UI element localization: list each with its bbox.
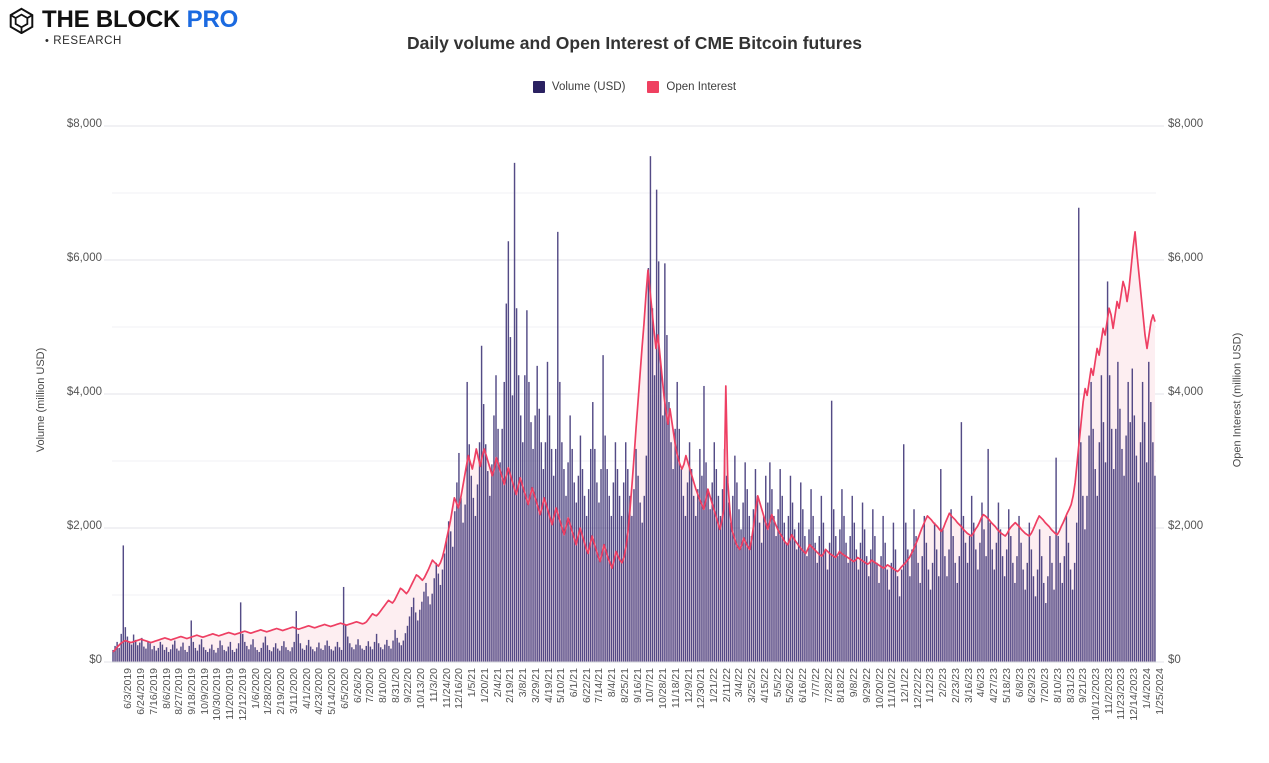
x-axis-tick: 2/4/21 <box>492 668 504 697</box>
x-axis-tick: 2/23/23 <box>950 668 962 703</box>
y-axis-right-tick: $6,000 <box>1168 252 1228 264</box>
x-axis-tick: 1/5/21 <box>466 668 478 697</box>
x-axis-tick: 8/18/22 <box>835 668 847 703</box>
x-axis-tick: 3/4/22 <box>733 668 745 697</box>
x-axis-tick: 8/4/21 <box>606 668 618 697</box>
x-axis-tick: 12/30/21 <box>695 668 707 709</box>
x-axis-tick: 6/26/20 <box>352 668 364 703</box>
x-axis-tick: 3/29/21 <box>530 668 542 703</box>
x-axis-tick: 6/3/2019 <box>122 668 134 709</box>
x-axis-ticks: 6/3/20196/24/20197/16/20198/6/20198/27/2… <box>0 666 1269 761</box>
x-axis-tick: 5/14/2020 <box>326 668 338 715</box>
x-axis-tick: 11/24/20 <box>441 668 453 708</box>
x-axis-tick: 9/18/2019 <box>186 668 198 715</box>
x-axis-tick: 3/25/22 <box>746 668 758 703</box>
x-axis-tick: 10/28/21 <box>657 668 669 709</box>
x-axis-tick: 2/19/2020 <box>275 668 287 715</box>
x-axis-tick: 9/29/22 <box>861 668 873 703</box>
x-axis-tick: 3/16/23 <box>963 668 975 703</box>
x-axis-tick: 8/31/23 <box>1065 668 1077 703</box>
x-axis-tick: 5/18/23 <box>1001 668 1013 703</box>
x-axis-tick: 2/11/22 <box>721 668 733 702</box>
x-axis-tick: 8/31/20 <box>390 668 402 703</box>
x-axis-tick: 1/20/21 <box>479 668 491 703</box>
x-axis-tick: 2/19/21 <box>504 668 516 703</box>
x-axis-tick: 5/26/22 <box>784 668 796 703</box>
x-axis-tick: 10/9/2019 <box>199 668 211 715</box>
chart-canvas <box>0 0 1269 763</box>
x-axis-tick: 4/6/23 <box>975 668 987 697</box>
x-axis-tick: 7/20/20 <box>364 668 376 703</box>
x-axis-tick: 12/9/21 <box>683 668 695 703</box>
x-axis-tick: 1/12/23 <box>924 668 936 703</box>
x-axis-tick: 6/29/23 <box>1026 668 1038 703</box>
y-axis-left-tick: $4,000 <box>42 386 102 398</box>
x-axis-tick: 11/3/20 <box>428 668 440 702</box>
x-axis-tick: 8/10/23 <box>1052 668 1064 703</box>
x-axis-tick: 12/22/22 <box>912 668 924 709</box>
x-axis-tick: 11/2/2023 <box>1103 668 1115 714</box>
x-axis-tick: 1/6/2020 <box>250 668 262 709</box>
y-axis-left-tick: $8,000 <box>42 118 102 130</box>
x-axis-tick: 6/1/21 <box>568 668 580 697</box>
x-axis-tick: 1/25/2024 <box>1154 668 1166 715</box>
y-axis-right-tick: $8,000 <box>1168 118 1228 130</box>
x-axis-tick: 12/14/2023 <box>1128 668 1140 721</box>
x-axis-tick: 7/20/23 <box>1039 668 1051 703</box>
x-axis-tick: 4/23/2020 <box>313 668 325 715</box>
y-axis-right-tick: $4,000 <box>1168 386 1228 398</box>
x-axis-tick: 10/7/21 <box>644 668 656 703</box>
x-axis-tick: 11/10/22 <box>886 668 898 708</box>
x-axis-tick: 4/27/23 <box>988 668 1000 703</box>
x-axis-tick: 3/8/21 <box>517 668 529 697</box>
y-axis-left-title: Volume (million USD) <box>35 340 47 460</box>
x-axis-tick: 11/23/2023 <box>1115 668 1127 720</box>
x-axis-tick: 8/27/2019 <box>173 668 185 715</box>
y-axis-right-tick: $2,000 <box>1168 520 1228 532</box>
x-axis-tick: 9/21/23 <box>1077 668 1089 703</box>
x-axis-tick: 12/12/2019 <box>237 668 249 721</box>
x-axis-tick: 10/13/20 <box>415 668 427 709</box>
x-axis-tick: 7/14/21 <box>593 668 605 703</box>
x-axis-tick: 9/22/20 <box>402 668 414 703</box>
x-axis-tick: 8/25/21 <box>619 668 631 703</box>
x-axis-tick: 7/7/22 <box>810 668 822 697</box>
y-axis-left-tick: $2,000 <box>42 520 102 532</box>
x-axis-tick: 7/28/22 <box>823 668 835 703</box>
x-axis-tick: 10/30/2019 <box>211 668 223 721</box>
x-axis-tick: 11/18/21 <box>670 668 682 708</box>
x-axis-tick: 12/16/20 <box>453 668 465 709</box>
x-axis-tick: 4/15/22 <box>759 668 771 703</box>
x-axis-tick: 2/2/23 <box>937 668 949 697</box>
x-axis-tick: 6/8/23 <box>1014 668 1026 697</box>
x-axis-tick: 1/21/22 <box>708 668 720 703</box>
x-axis-tick: 6/5/2020 <box>339 668 351 709</box>
x-axis-tick: 9/16/21 <box>632 668 644 703</box>
x-axis-tick: 6/24/2019 <box>135 668 147 715</box>
x-axis-tick: 7/16/2019 <box>148 668 160 715</box>
x-axis-tick: 5/10/21 <box>555 668 567 703</box>
x-axis-tick: 10/20/22 <box>874 668 886 709</box>
x-axis-tick: 5/5/22 <box>772 668 784 697</box>
x-axis-tick: 10/12/2023 <box>1090 668 1102 721</box>
y-axis-right-tick: $0 <box>1168 654 1228 666</box>
x-axis-tick: 8/6/2019 <box>161 668 173 709</box>
x-axis-tick: 4/19/21 <box>543 668 555 703</box>
x-axis-tick: 6/16/22 <box>797 668 809 703</box>
x-axis-tick: 3/11/2020 <box>288 668 300 714</box>
x-axis-tick: 1/28/2020 <box>262 668 274 715</box>
x-axis-tick: 4/1/2020 <box>301 668 313 709</box>
x-axis-tick: 9/8/22 <box>848 668 860 697</box>
y-axis-left-tick: $6,000 <box>42 252 102 264</box>
y-axis-left-tick: $0 <box>42 654 102 666</box>
x-axis-tick: 1/4/2024 <box>1141 668 1153 709</box>
x-axis-tick: 6/22/21 <box>581 668 593 703</box>
y-axis-right-title: Open Interest (million USD) <box>1232 328 1244 473</box>
x-axis-tick: 12/1/22 <box>899 668 911 703</box>
x-axis-tick: 11/20/2019 <box>224 668 236 720</box>
x-axis-tick: 8/10/20 <box>377 668 389 703</box>
chart-plot-area: Volume (million USD) Open Interest (mill… <box>0 0 1269 763</box>
